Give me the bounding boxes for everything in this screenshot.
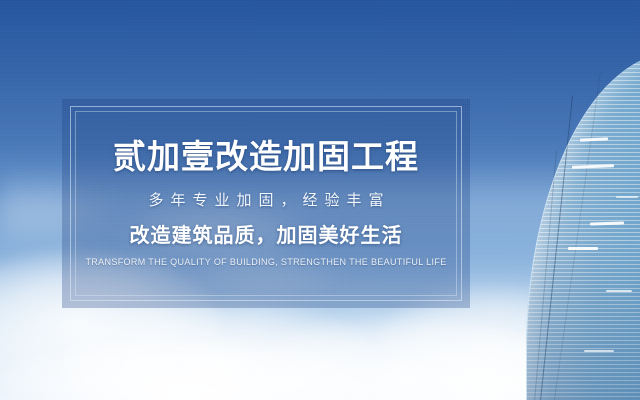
hero-banner: 贰加壹改造加固工程 多年专业加固，经验丰富 改造建筑品质，加固美好生活 TRAN…: [0, 0, 640, 400]
tower-window-glint-7: [584, 350, 614, 352]
tower-shading: [526, 52, 640, 400]
tower-window-glint-3: [616, 196, 638, 198]
banner-subline: 多年专业加固，经验丰富: [141, 192, 390, 210]
banner-english-line: TRANSFORM THE QUALITY OF BUILDING, STREN…: [85, 257, 446, 268]
tower-window-glint-6: [606, 290, 632, 292]
curved-glass-skyscraper: [480, 0, 640, 400]
banner-headline: 贰加壹改造加固工程: [113, 139, 419, 176]
banner-text-stack: 贰加壹改造加固工程 多年专业加固，经验丰富 改造建筑品质，加固美好生活 TRAN…: [75, 111, 457, 296]
tower-window-glint-5: [568, 247, 598, 250]
banner-tagline: 改造建筑品质，加固美好生活: [130, 224, 403, 248]
